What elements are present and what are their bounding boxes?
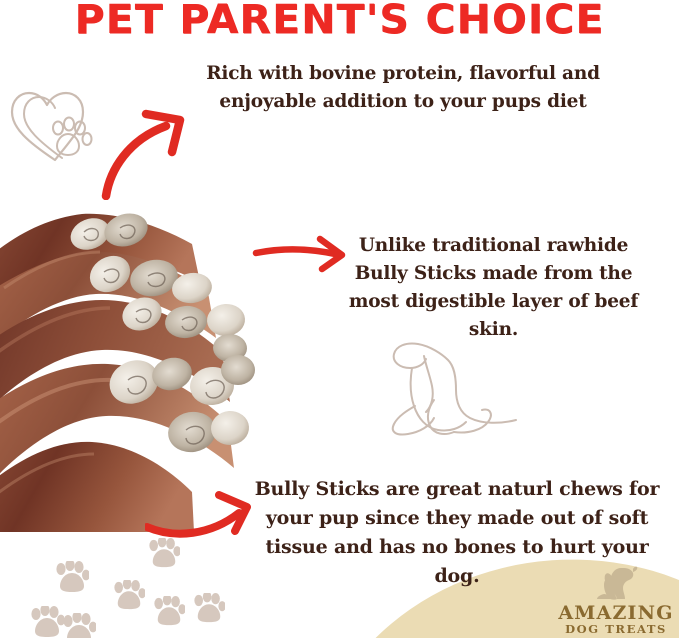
paw-print-icon — [193, 593, 225, 627]
paw-print-icon — [30, 606, 64, 638]
paw-print-icon — [113, 580, 145, 614]
promo-infographic: PET PARENT'S CHOICE — [0, 0, 679, 638]
brand-name: AMAZING — [556, 603, 676, 623]
paw-print-icon — [62, 613, 96, 638]
benefit-text-digestible: Unlike traditional rawhide Bully Sticks … — [341, 232, 646, 344]
heart-with-paw-icon — [8, 88, 104, 170]
paw-print-icon — [148, 538, 180, 572]
brand-tagline: DOG TREATS — [556, 623, 676, 636]
paw-print-icon — [153, 596, 185, 630]
sitting-dog-icon — [593, 564, 639, 602]
bully-sticks-bundle-photo — [0, 196, 278, 536]
brand-logo: AMAZING DOG TREATS — [556, 564, 676, 636]
page-title: PET PARENT'S CHOICE — [0, 0, 679, 42]
benefit-text-protein: Rich with bovine protein, flavorful and … — [183, 60, 623, 116]
paw-print-icon — [55, 561, 89, 597]
dog-outline-icon — [382, 332, 522, 456]
